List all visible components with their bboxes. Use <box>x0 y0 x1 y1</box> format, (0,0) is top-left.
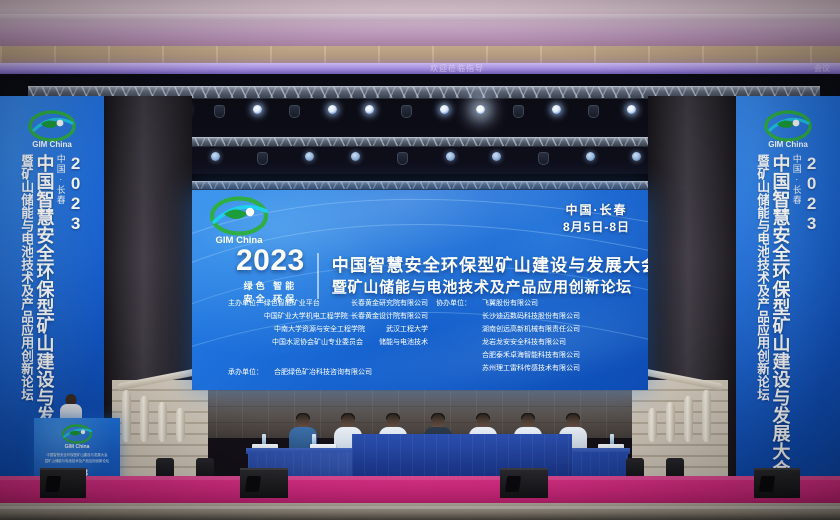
side-banner-right: GIM China 2023 中国·长春 中国智慧安全环保型矿山建设与发展大会 … <box>736 96 840 500</box>
balustrade-left <box>118 376 196 442</box>
podium-line1: 中国智慧安全环保型矿山建设与发展大会 <box>39 452 115 457</box>
balustrade-post <box>648 408 657 442</box>
svg-text:GIM China: GIM China <box>768 140 808 149</box>
coorg-label: 协办单位： <box>436 298 482 311</box>
par-lamp <box>253 105 262 114</box>
par-lamp <box>586 152 595 161</box>
host-label-spacer <box>228 337 272 350</box>
par-lamp <box>552 105 561 114</box>
moving-head-light <box>289 105 300 118</box>
banner-title-sub: 暨矿山储能与电池技术及产品应用创新论坛 <box>20 154 33 500</box>
svg-text:GIM China: GIM China <box>65 444 90 450</box>
stage-carpet <box>0 476 840 506</box>
gim-china-logo-icon: GIM China <box>206 196 272 248</box>
host-col2-item: 武汉工程大学 <box>386 324 428 337</box>
host-group-empty <box>228 350 428 363</box>
gim-china-logo-icon: GIM China <box>26 110 78 150</box>
coorg-group: 长沙迪迈数码科技股份有限公司 <box>436 311 580 324</box>
organizer-row: 中南大学资源与安全工程学院 武汉工程大学 湖南创远高新机械有限责任公司 <box>228 324 624 337</box>
balustrade-post <box>666 402 675 442</box>
par-lamp <box>446 152 455 161</box>
moving-head-light <box>513 105 524 118</box>
host-group: 中国水泥协会矿山专业委员会 储能与电池技术 <box>228 337 428 350</box>
screen-titles: 中国智慧安全环保型矿山建设与发展大会 暨矿山储能与电池技术及产品应用创新论坛 <box>332 255 648 298</box>
coorg-label-spacer <box>436 363 482 380</box>
moving-head-light <box>588 105 599 118</box>
banner-title-sub: 暨矿山储能与电池技术及产品应用创新论坛 <box>756 154 769 500</box>
ceiling-led-strip: 欢迎莅临指导 会议 <box>0 63 840 74</box>
led-strip-text-right: 会议 <box>814 64 830 73</box>
svg-text:GIM China: GIM China <box>32 140 72 149</box>
coorg-group: 苏州理工雷科传感技术有限公司 <box>436 363 580 380</box>
host-col1-item: 中国水泥协会矿山专业委员会 <box>272 337 379 350</box>
host-col1-item: 中南大学资源与安全工程学院 <box>274 324 386 337</box>
venue-ceiling <box>0 0 840 46</box>
balustrade-post <box>684 396 693 442</box>
balustrade-post <box>158 402 167 442</box>
coorg-group: 协办单位： 飞翼股份有限公司 <box>436 298 538 311</box>
host-label-spacer <box>228 311 264 324</box>
moving-head-light <box>401 105 412 118</box>
coorg-item: 湖南创远高新机械有限责任公司 <box>482 324 580 337</box>
moving-head-light <box>257 152 268 165</box>
banner-city: 中国·长春 <box>792 154 801 500</box>
venue-cornice <box>0 46 840 64</box>
host-col2-item: 储能与电池技术 <box>379 337 428 350</box>
host-col2-item: 长春黄金设计院有限公司 <box>351 311 428 324</box>
screen-tagline-line1: 绿色 智能 <box>236 280 305 293</box>
balustrade-post <box>140 396 149 442</box>
title-divider <box>317 253 319 299</box>
banner-title-main: 中国智慧安全环保型矿山建设与发展大会 <box>771 154 789 500</box>
balustrade-post <box>702 390 711 442</box>
coorg-group: 龙岩龙安安全科技有限公司 <box>436 337 566 350</box>
coorg-label-spacer <box>436 311 482 324</box>
stage-monitor-speaker <box>754 468 800 498</box>
coorg-group: 湖南创远高新机械有限责任公司 <box>436 324 580 337</box>
coorg-label-spacer <box>436 350 482 363</box>
led-strip-text: 欢迎莅临指导 <box>430 64 484 73</box>
undertaker-value: 合肥绿色矿冶科技咨询有限公司 <box>274 367 372 380</box>
par-lamp <box>492 152 501 161</box>
par-lamp <box>305 152 314 161</box>
host-group: 主办单位： 绿色智能矿业平台 长春黄金研究院有限公司 <box>228 298 428 311</box>
moving-head-light <box>397 152 408 165</box>
stage-apron-edge <box>0 503 840 520</box>
moving-head-light <box>214 105 225 118</box>
host-col1-item: 绿色智能矿业平台 <box>264 298 351 311</box>
stage-monitor-speaker <box>40 468 86 498</box>
screen-year: 2023 <box>236 246 305 276</box>
par-lamp <box>365 105 374 114</box>
undertaker-label: 承办单位： <box>228 367 274 380</box>
balustrade-post <box>176 408 185 442</box>
stage-monitor-speaker <box>500 468 548 498</box>
screen-dates: 8月5日-8日 <box>563 219 630 236</box>
coorg-group: 合肥泰禾卓海智能科技有限公司 <box>436 350 580 363</box>
screen-date-location: 中国·长春 8月5日-8日 <box>563 202 630 237</box>
organizer-row: 中国水泥协会矿山专业委员会 储能与电池技术 龙岩龙安安全科技有限公司 <box>228 337 624 350</box>
organizer-row: 中国矿业大学机电工程学院 长春黄金设计院有限公司 长沙迪迈数码科技股份有限公司 <box>228 311 624 324</box>
par-lamp-bright <box>476 105 485 114</box>
host-group: 中南大学资源与安全工程学院 武汉工程大学 <box>228 324 428 337</box>
undertaker-group: 承办单位： 合肥绿色矿冶科技咨询有限公司 <box>228 367 428 380</box>
gim-china-logo-icon: GIM China <box>60 424 94 450</box>
coorg-item: 长沙迪迈数码科技股份有限公司 <box>482 311 580 324</box>
gim-china-logo-icon: GIM China <box>762 110 814 150</box>
coorg-label-spacer <box>436 337 482 350</box>
organizer-row: 承办单位： 合肥绿色矿冶科技咨询有限公司 苏州理工雷科传感技术有限公司 <box>228 363 624 380</box>
host-col2-item: 长春黄金研究院有限公司 <box>351 298 428 311</box>
par-lamp <box>627 105 636 114</box>
organizer-row: 主办单位： 绿色智能矿业平台 长春黄金研究院有限公司 协办单位： 飞翼股份有限公… <box>228 298 624 311</box>
moving-head-light <box>538 152 549 165</box>
conference-stage-photo: 欢迎莅临指导 会议 <box>0 0 840 520</box>
coorg-item: 飞翼股份有限公司 <box>482 298 538 311</box>
screen-title-sub: 暨矿山储能与电池技术及产品应用创新论坛 <box>332 278 648 298</box>
coorg-item: 苏州理工雷科传感技术有限公司 <box>482 363 580 380</box>
podium-line2: 暨矿山储能与电池技术及产品应用创新论坛 <box>39 458 115 463</box>
balustrade-right <box>644 376 722 442</box>
par-lamp <box>211 152 220 161</box>
screen-location: 中国·长春 <box>563 202 630 219</box>
coorg-label-spacer <box>436 324 482 337</box>
host-col1-item: 中国矿业大学机电工程学院 <box>264 311 351 324</box>
organizer-row: 合肥泰禾卓海智能科技有限公司 <box>228 350 624 363</box>
coorg-item: 龙岩龙安安全科技有限公司 <box>482 337 566 350</box>
host-group: 中国矿业大学机电工程学院 长春黄金设计院有限公司 <box>228 311 428 324</box>
par-lamp <box>351 152 360 161</box>
coorg-item: 合肥泰禾卓海智能科技有限公司 <box>482 350 580 363</box>
main-led-screen: GIM China 中国·长春 8月5日-8日 2023 绿色 智能 安全 环保… <box>192 190 648 390</box>
balustrade-post <box>122 390 131 442</box>
host-label-spacer <box>228 324 274 337</box>
banner-text-columns-right: 2023 中国·长春 中国智慧安全环保型矿山建设与发展大会 暨矿山储能与电池技术… <box>736 154 840 500</box>
par-lamp <box>328 105 337 114</box>
par-lamp <box>632 152 641 161</box>
stage-monitor-speaker <box>240 468 288 498</box>
screen-title-main: 中国智慧安全环保型矿山建设与发展大会 <box>332 255 648 276</box>
banner-year: 2023 <box>803 154 820 500</box>
screen-organizers-block: 主办单位： 绿色智能矿业平台 长春黄金研究院有限公司 协办单位： 飞翼股份有限公… <box>228 298 624 380</box>
par-lamp <box>440 105 449 114</box>
host-label: 主办单位： <box>228 298 264 311</box>
